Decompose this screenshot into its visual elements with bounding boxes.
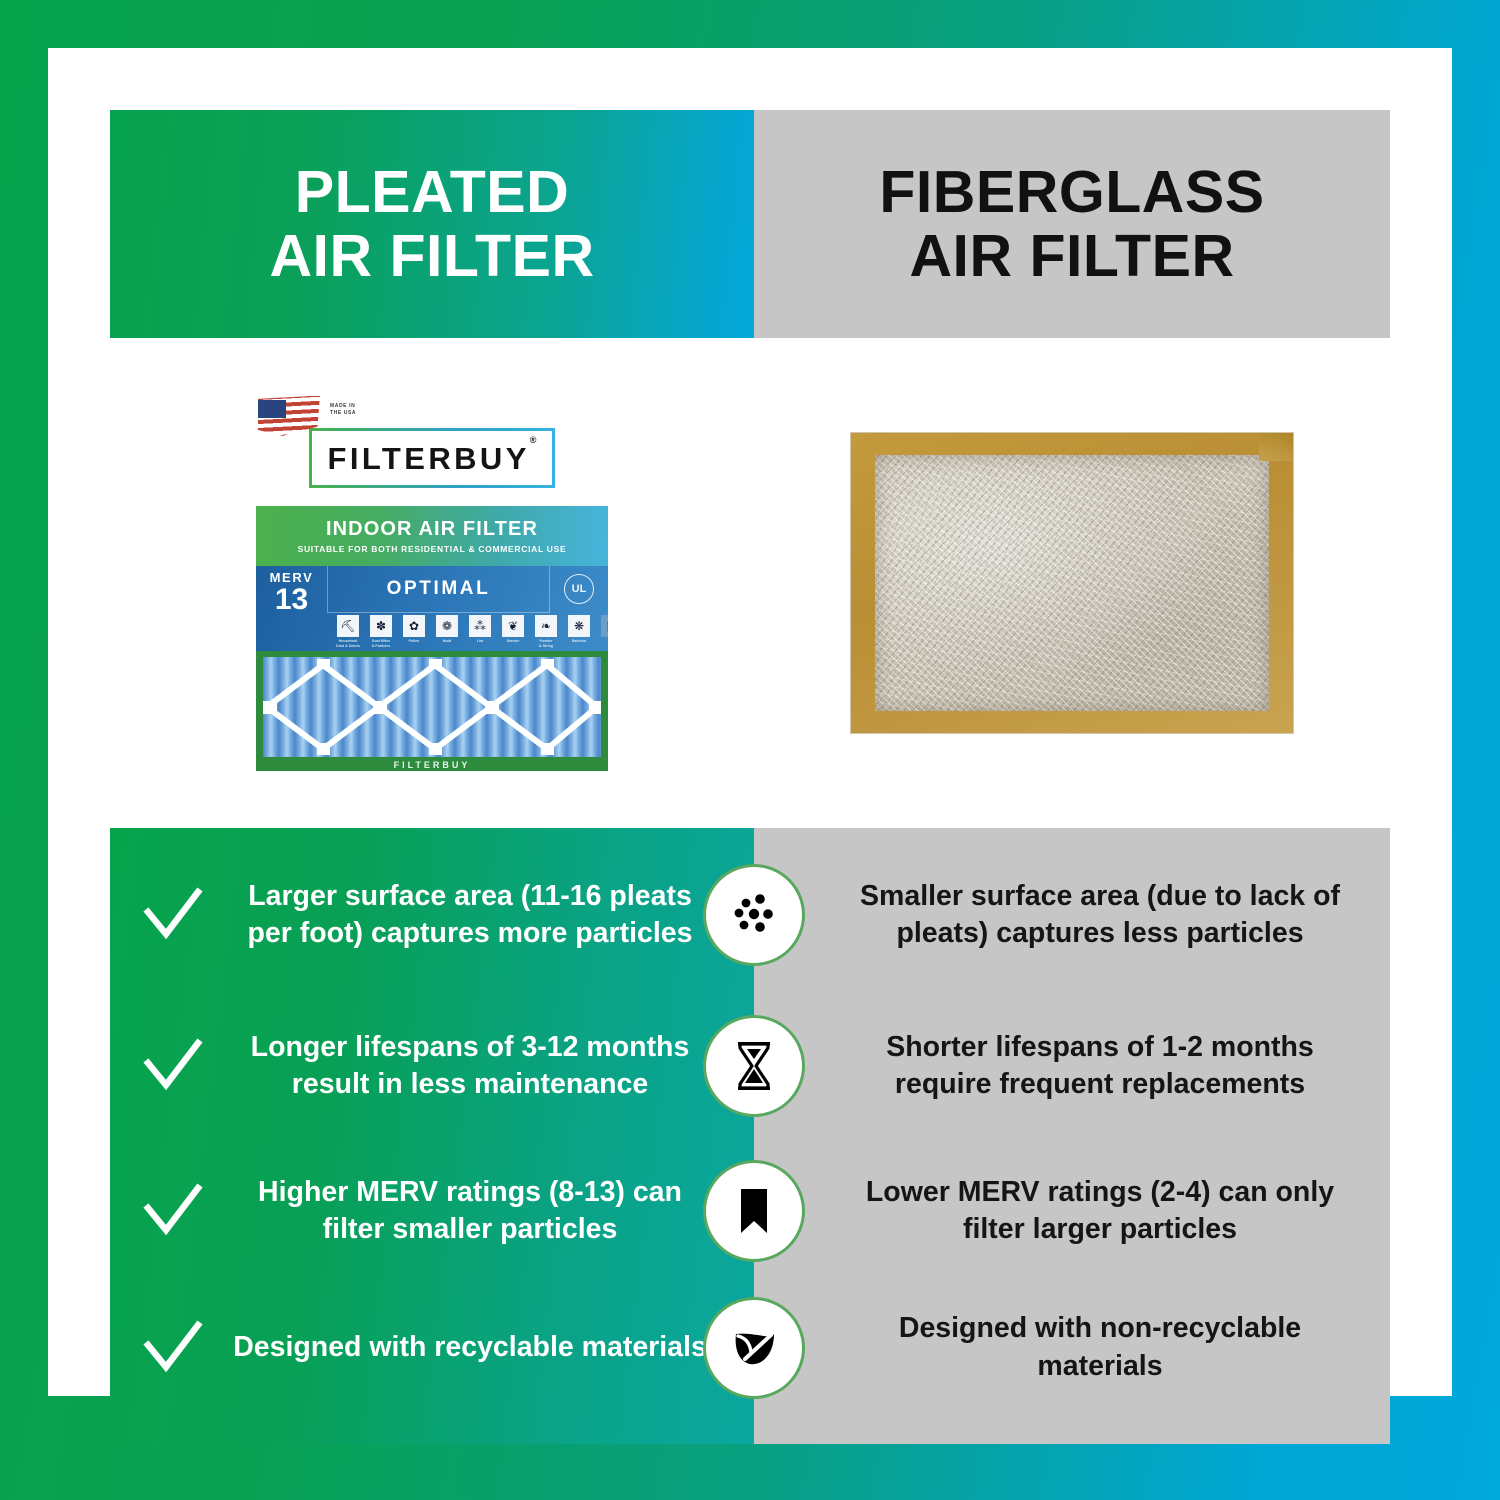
- fiberglass-drawback-text: Shorter lifespans of 1-2 months require …: [846, 1029, 1354, 1103]
- blue-pleat-media: [263, 657, 601, 757]
- filterbuy-product-box: MADE IN THE USA FILTERBUY® INDOOR AIR FI…: [256, 396, 608, 771]
- pleated-benefit-cell: Larger surface area (11-16 pleats per fo…: [110, 878, 754, 952]
- checkmark: [142, 1317, 204, 1379]
- made-in-usa-label: MADE IN THE USA: [330, 403, 356, 417]
- indoor-air-filter-banner: INDOOR AIR FILTER SUITABLE FOR BOTH RESI…: [256, 506, 608, 566]
- filterbuy-frame-brand: FILTERBUY: [256, 760, 608, 770]
- fiberglass-media-texture: [875, 455, 1269, 711]
- checkmark-icon: [142, 884, 204, 946]
- checkmark: [142, 1035, 204, 1097]
- wire-mesh-overlay: [263, 657, 601, 757]
- capture-icon-glyph: ⬚: [601, 615, 608, 637]
- bookmark-icon: [724, 1181, 784, 1241]
- filterbuy-logo-frame: FILTERBUY®: [309, 428, 556, 488]
- pleated-benefit-text: Higher MERV ratings (8-13) can filter sm…: [230, 1174, 710, 1248]
- capture-icon-4: ⁂Lint: [466, 615, 494, 648]
- capture-icon-label: Lint: [477, 639, 484, 643]
- capture-icon-7: ❋Bacteria: [565, 615, 593, 648]
- checkmark: [142, 884, 204, 946]
- registered-mark: ®: [530, 435, 537, 445]
- fiberglass-filter-photo: [851, 433, 1293, 733]
- capture-icon-glyph: ❧: [535, 615, 557, 637]
- pleated-media-area: FILTERBUY: [256, 651, 608, 771]
- capture-icon-list: ⛏Household Dust & Debris✽Dust Mites & Pa…: [328, 615, 608, 648]
- header-pleated-title: PLEATED AIR FILTER: [269, 160, 594, 289]
- fiberglass-filter-photo-cell: [754, 338, 1390, 828]
- fiberglass-drawback-text: Designed with non-recyclable materials: [846, 1310, 1354, 1384]
- pleated-benefit-cell: Longer lifespans of 3-12 months result i…: [110, 1029, 754, 1103]
- capture-icon-glyph: ❦: [502, 615, 524, 637]
- filterbuy-logo-text: FILTERBUY: [328, 441, 530, 476]
- capture-icon-label: Powder & String: [539, 639, 553, 648]
- product-image-band: MADE IN THE USA FILTERBUY® INDOOR AIR FI…: [110, 338, 1390, 828]
- ul-certification-block: UL: [550, 566, 608, 613]
- capture-icon-0: ⛏Household Dust & Debris: [334, 615, 362, 648]
- capture-icon-label: Bacteria: [572, 639, 586, 643]
- fiberglass-drawback-cell: Designed with non-recyclable materials: [754, 1310, 1390, 1384]
- capture-icon-label: Household Dust & Debris: [336, 639, 360, 648]
- pleated-filter-photo-cell: MADE IN THE USA FILTERBUY® INDOOR AIR FI…: [110, 338, 754, 828]
- leaf-icon-badge: [703, 1297, 805, 1399]
- particles-icon-badge: [703, 864, 805, 966]
- bookmark-icon-badge: [703, 1160, 805, 1262]
- pleated-benefit-text: Longer lifespans of 3-12 months result i…: [230, 1029, 710, 1103]
- leaf-icon: [724, 1318, 784, 1378]
- merv-spec-row: MERV 13 OPTIMAL UL: [256, 566, 608, 613]
- fiberglass-drawback-cell: Shorter lifespans of 1-2 months require …: [754, 1029, 1390, 1103]
- capture-icon-glyph: ✽: [370, 615, 392, 637]
- merv-spec-panel: MERV 13 OPTIMAL UL ⛏Household Dust & Deb…: [256, 566, 608, 651]
- banner-title: INDOOR AIR FILTER: [326, 518, 538, 541]
- banner-subtitle: SUITABLE FOR BOTH RESIDENTIAL & COMMERCI…: [298, 544, 567, 554]
- comparison-section: Larger surface area (11-16 pleats per fo…: [110, 828, 1390, 1444]
- pleated-benefit-text: Designed with recyclable materials: [230, 1329, 710, 1366]
- capture-icon-label: Mold: [443, 639, 451, 643]
- fiberglass-drawback-cell: Smaller surface area (due to lack of ple…: [754, 878, 1390, 952]
- checkmark-icon: [142, 1180, 204, 1242]
- comparison-row-list: Larger surface area (11-16 pleats per fo…: [110, 828, 1390, 1444]
- filterbuy-box-top: MADE IN THE USA FILTERBUY®: [256, 396, 608, 506]
- capture-icon-glyph: ❁: [436, 615, 458, 637]
- pleated-benefit-text: Larger surface area (11-16 pleats per fo…: [230, 878, 710, 952]
- capture-icon-3: ❁Mold: [433, 615, 461, 648]
- fiberglass-drawback-text: Lower MERV ratings (2-4) can only filter…: [846, 1174, 1354, 1248]
- capture-icon-glyph: ⛏: [337, 615, 359, 637]
- fiberglass-drawback-cell: Lower MERV ratings (2-4) can only filter…: [754, 1174, 1390, 1248]
- grade-block: OPTIMAL: [328, 566, 550, 613]
- checkmark-icon: [142, 1317, 204, 1379]
- capture-icon-glyph: ❋: [568, 615, 590, 637]
- capture-icon-label: Dander: [507, 639, 519, 643]
- capture-icon-glyph: ⁂: [469, 615, 491, 637]
- capture-icon-label: Dust Mites & Particles: [372, 639, 391, 648]
- particles-icon: [724, 885, 784, 945]
- hourglass-icon: [724, 1036, 784, 1096]
- checkmark: [142, 1180, 204, 1242]
- pleated-benefit-cell: Designed with recyclable materials: [110, 1317, 754, 1379]
- cardboard-frame-corner: [1259, 433, 1293, 461]
- header-strip: PLEATED AIR FILTER FIBERGLASS AIR FILTER: [110, 110, 1390, 338]
- header-fiberglass-title: FIBERGLASS AIR FILTER: [879, 160, 1264, 289]
- filterbuy-logo: FILTERBUY®: [328, 441, 537, 477]
- merv-value: 13: [275, 585, 308, 614]
- grade-label: OPTIMAL: [387, 578, 491, 600]
- capture-icon-5: ❦Dander: [499, 615, 527, 648]
- pleated-benefit-cell: Higher MERV ratings (8-13) can filter sm…: [110, 1174, 754, 1248]
- ul-badge-icon: UL: [564, 574, 594, 604]
- merv-rating-block: MERV 13: [256, 566, 328, 613]
- infographic-card: PLEATED AIR FILTER FIBERGLASS AIR FILTER…: [48, 48, 1452, 1396]
- capture-icon-2: ✿Pollen: [400, 615, 428, 648]
- capture-icons-row: ⛏Household Dust & Debris✽Dust Mites & Pa…: [256, 613, 608, 651]
- header-fiberglass: FIBERGLASS AIR FILTER: [754, 110, 1390, 338]
- hourglass-icon-badge: [703, 1015, 805, 1117]
- capture-icon-6: ❧Powder & String: [532, 615, 560, 648]
- capture-icon-8: ⬚: [598, 615, 608, 648]
- capture-icon-label: Pollen: [409, 639, 420, 643]
- capture-icon-1: ✽Dust Mites & Particles: [367, 615, 395, 648]
- checkmark-icon: [142, 1035, 204, 1097]
- header-pleated: PLEATED AIR FILTER: [110, 110, 754, 338]
- fiberglass-drawback-text: Smaller surface area (due to lack of ple…: [846, 878, 1354, 952]
- capture-icon-glyph: ✿: [403, 615, 425, 637]
